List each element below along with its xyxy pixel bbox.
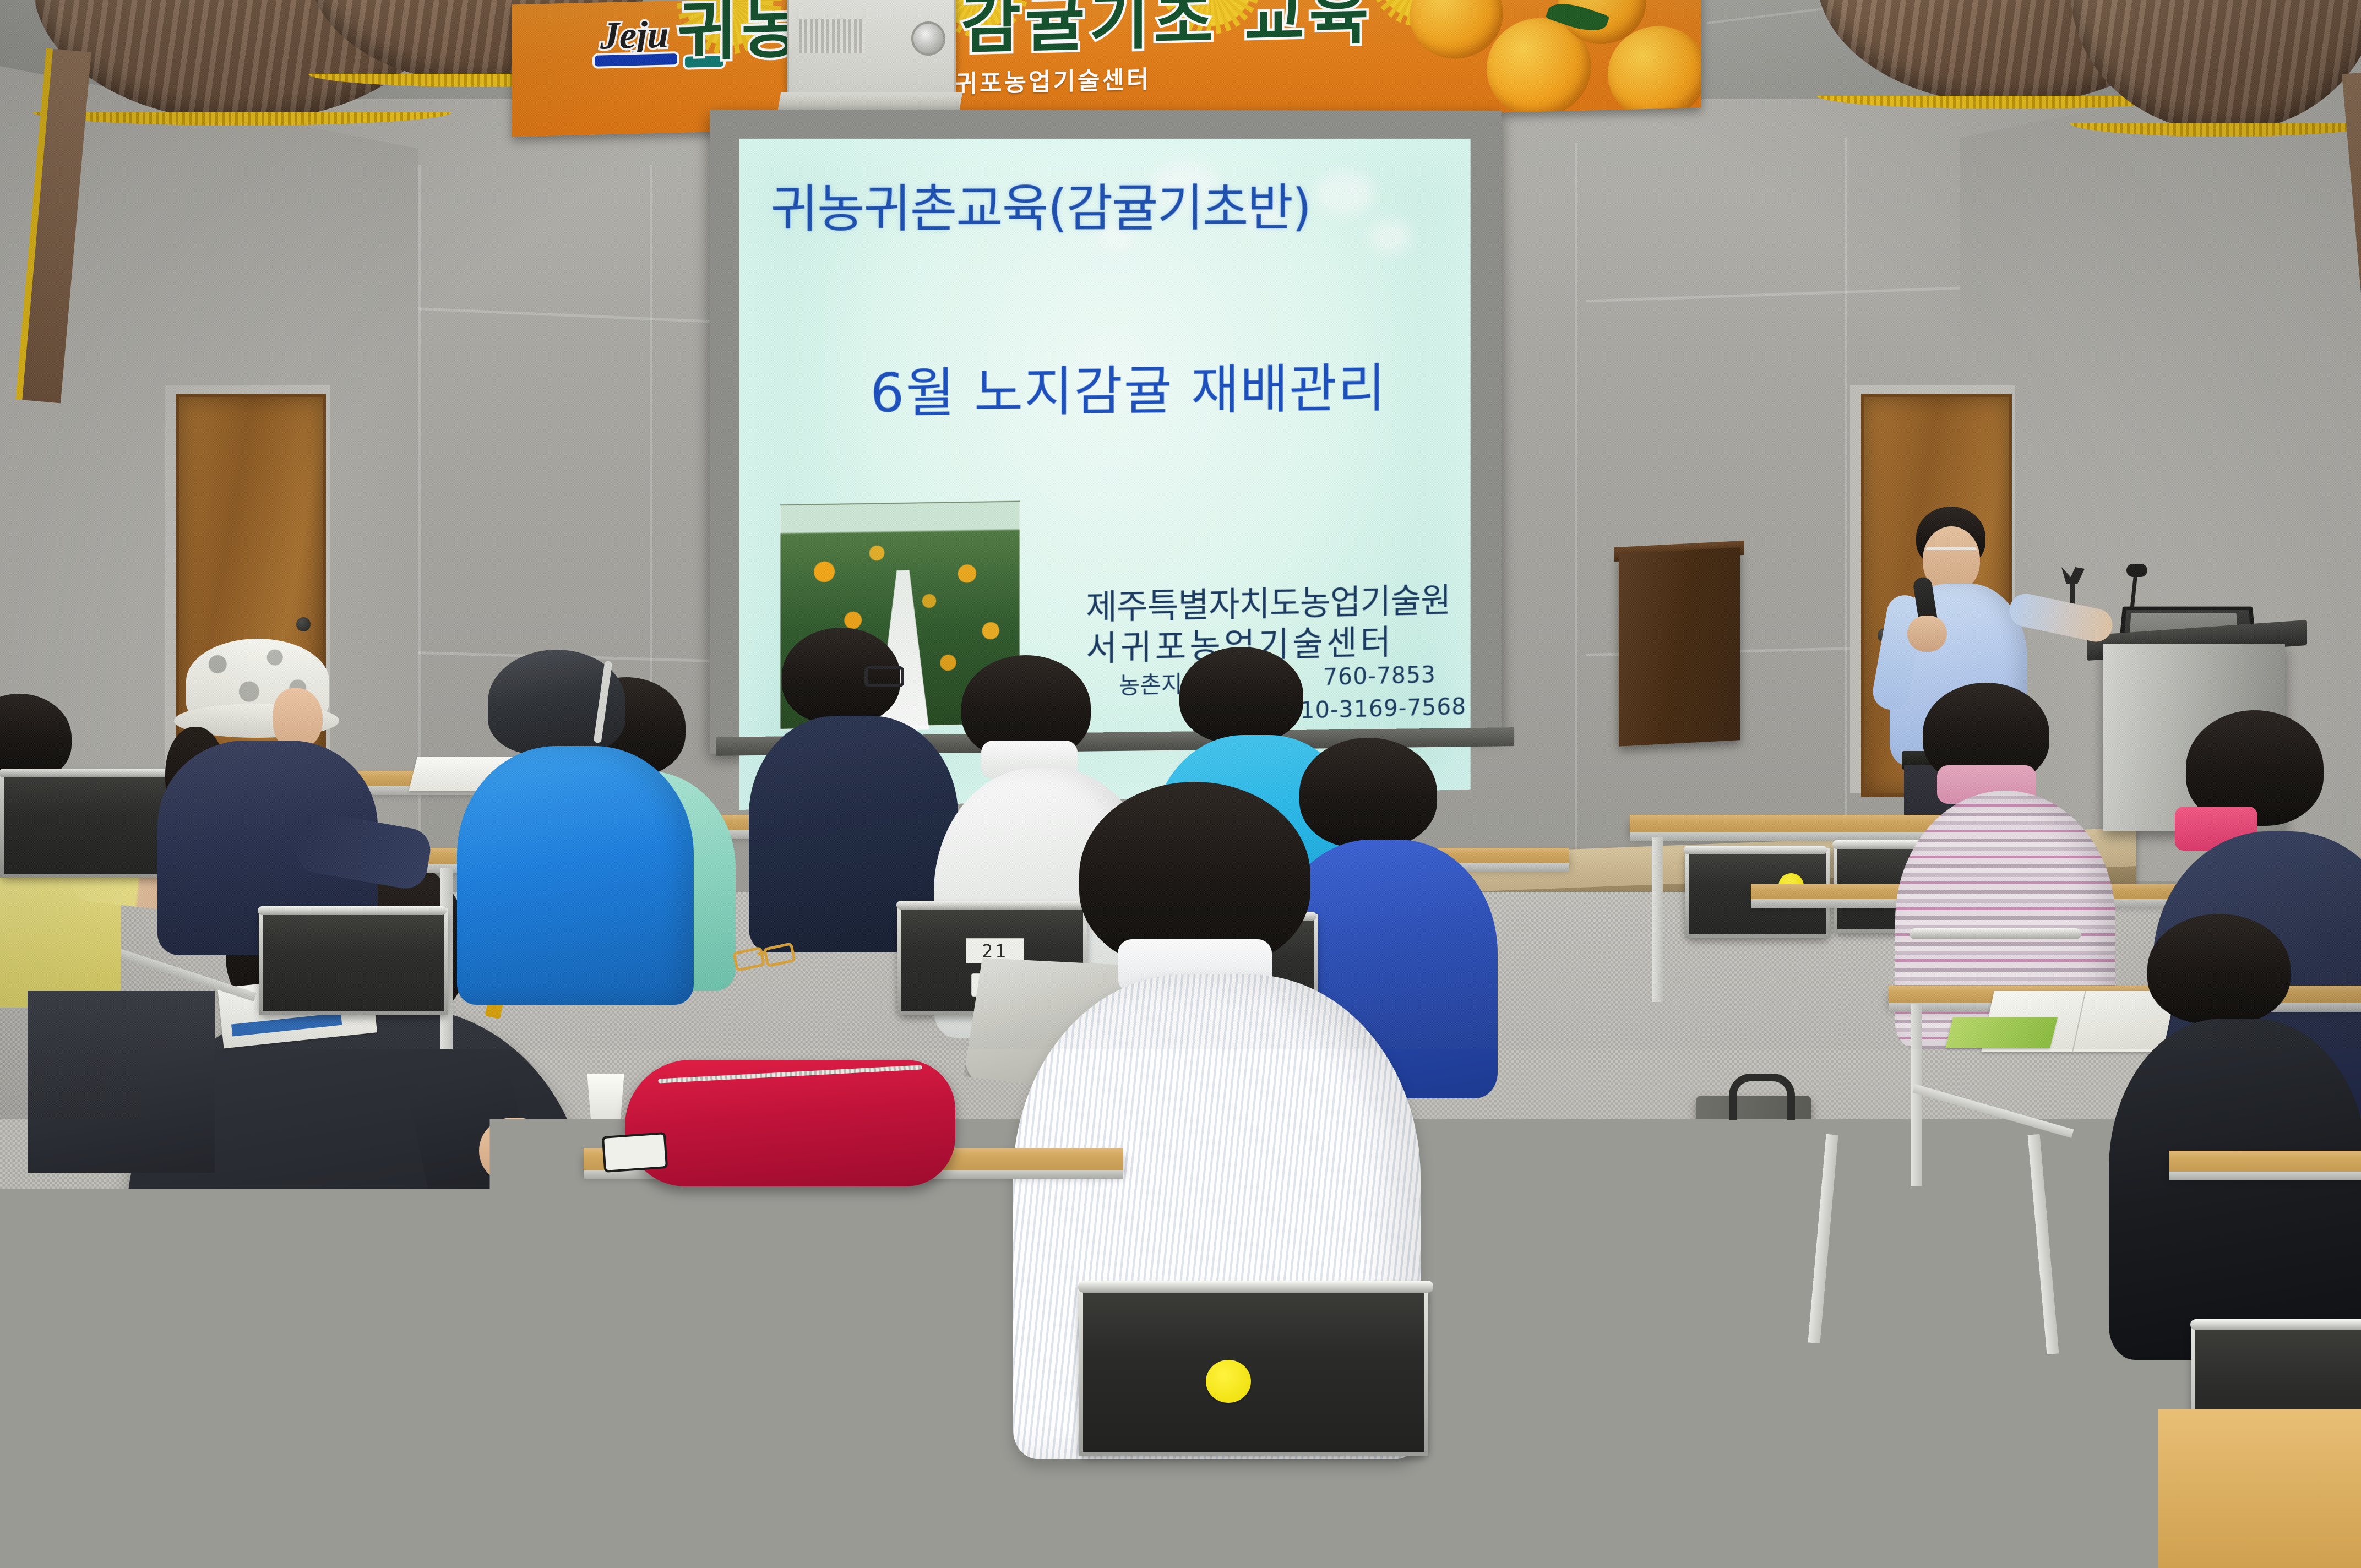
slide-heading: 6월 노지감귤 재배관리 [870,346,1386,428]
jeju-logo-bar-blue [592,51,679,69]
eyeglasses-icon [864,666,904,687]
chair[interactable] [160,1288,501,1464]
chair[interactable] [1834,1228,2015,1321]
wall-panel-seam [1845,138,1847,870]
asset-sticker [764,1310,812,1354]
handout-header-bar [231,1013,342,1037]
chair[interactable] [1079,1283,1421,1448]
black-top [2109,1019,2361,1360]
microphone-capsule-icon [2126,564,2147,577]
presenter-hand [1907,616,1947,652]
curtain-valance-right-2 [2070,0,2361,143]
briefcase-handle [1729,1074,1795,1120]
bag-zipper [658,1065,922,1083]
banner-subtitle: 서귀포농업기술센터 [931,59,1151,100]
slide-title: 귀농귀촌교육(감귤기초반) [770,167,1310,242]
chair[interactable] [0,771,182,870]
jeju-logo-text: Jeju [600,13,668,57]
wooden-podium[interactable] [1619,547,1740,747]
asset-sticker [1206,1360,1251,1403]
face [273,688,323,749]
chair[interactable] [259,908,440,1008]
blue-windbreaker [457,746,694,1005]
banner-headline: 귀농귀촌 감귤기초 교육 [677,0,1373,73]
ceiling-projector [787,0,956,101]
desk-leg [1454,1163,1468,1400]
door-knob-icon[interactable] [296,617,311,631]
green-leaflet [1945,1017,2058,1048]
jeju-logo: Jeju [600,13,668,58]
slide-telephone: 760-7853 [1323,661,1436,690]
projector-lens [911,21,945,56]
classroom-photo: Jeju 귀농귀촌 감귤기초 교육 20 서귀포농업기술센터 [0,0,2361,1568]
tangerine-artwork [1366,0,1701,127]
trousers [28,991,215,1173]
red-duffel-bag [625,1060,955,1186]
asset-label [858,1272,905,1305]
foreground-desk-right [2158,1409,2361,1568]
desk [2169,1151,2361,1173]
eyeglasses-icon [1926,547,1977,560]
projector-vents [799,19,865,53]
hand [479,1118,551,1184]
inspection-label [330,1321,392,1389]
chair[interactable] [1911,930,2076,997]
grey-briefcase [1696,1096,1811,1261]
wall-panel-seam [1575,143,1577,875]
foreground-desk [0,1476,1806,1568]
chair[interactable] [622,1228,953,1409]
desk-leg [1652,837,1663,1002]
slide-mobile-number: 010-3169-7568 [1285,693,1466,725]
white-smartphone [602,1132,668,1173]
desk-leg [1911,1004,1922,1186]
